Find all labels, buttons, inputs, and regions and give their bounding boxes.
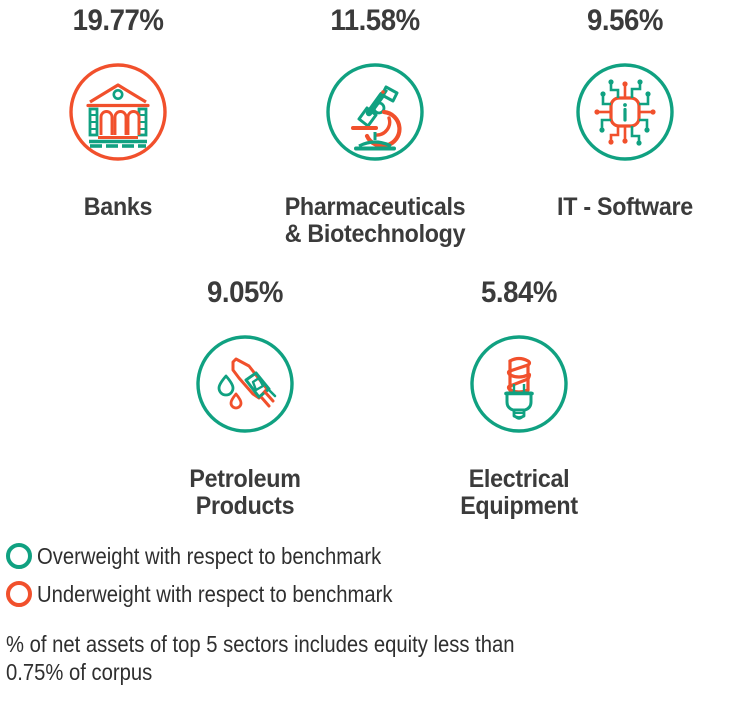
legend-item-overweight: Overweight with respect to benchmark xyxy=(6,537,736,575)
microchip-circuit-icon xyxy=(573,60,677,164)
sector-card-banks: 19.77% xyxy=(0,4,243,221)
sector-card-it-software: 9.56% xyxy=(500,4,744,221)
sector-label-it-software: IT - Software xyxy=(509,194,742,221)
legend-label-overweight: Overweight with respect to benchmark xyxy=(37,543,381,569)
sector-percent-petroleum: 9.05% xyxy=(130,276,360,310)
fuel-nozzle-icon xyxy=(193,332,297,436)
sector-icon-banks xyxy=(0,52,243,172)
underweight-circle-icon xyxy=(6,581,32,607)
sector-label-banks: Banks xyxy=(2,194,235,221)
sector-percent-pharmaceuticals: 11.58% xyxy=(260,4,490,38)
sector-icon-pharmaceuticals xyxy=(250,52,500,172)
cfl-bulb-icon xyxy=(467,332,571,436)
sector-icon-petroleum xyxy=(120,324,370,444)
sector-label-pharmaceuticals: Pharmaceuticals & Biotechnology xyxy=(259,194,492,248)
legend: Overweight with respect to benchmark Und… xyxy=(6,537,736,613)
sector-label-petroleum: Petroleum Products xyxy=(129,466,362,520)
sector-card-petroleum: 9.05% Petroleum Products xyxy=(120,276,370,520)
footnote-text: % of net assets of top 5 sectors include… xyxy=(6,630,654,686)
sector-percent-banks: 19.77% xyxy=(3,4,233,38)
legend-item-underweight: Underweight with respect to benchmark xyxy=(6,575,736,613)
microscope-icon xyxy=(323,60,427,164)
sector-card-electrical: 5.84% Electrical Equipment xyxy=(394,276,644,520)
sector-icon-electrical xyxy=(394,324,644,444)
sector-percent-electrical: 5.84% xyxy=(404,276,634,310)
sector-percent-it-software: 9.56% xyxy=(510,4,740,38)
legend-label-underweight: Underweight with respect to benchmark xyxy=(37,581,393,607)
bank-building-icon xyxy=(66,60,170,164)
sector-card-pharmaceuticals: 11.58% Pharmaceuticals & Biotechnology xyxy=(250,4,500,248)
sector-icon-it-software xyxy=(500,52,744,172)
sector-label-electrical: Electrical Equipment xyxy=(403,466,636,520)
overweight-circle-icon xyxy=(6,543,32,569)
